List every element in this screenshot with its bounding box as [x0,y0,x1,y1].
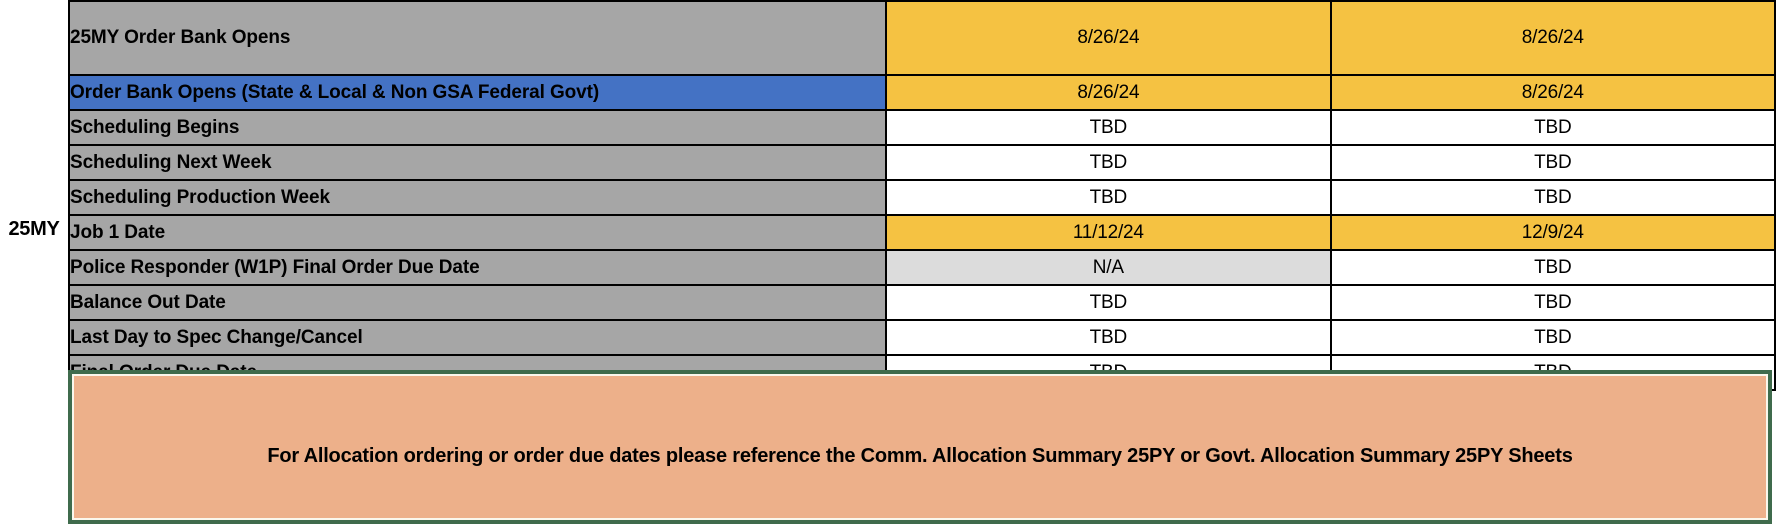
date-value-cell: 8/26/24 [1331,1,1775,75]
date-value-cell: 8/26/24 [1331,75,1775,110]
date-value-cell: TBD [886,145,1330,180]
date-value-cell: 11/12/24 [886,215,1330,250]
table-row: Job 1 Date11/12/2412/9/24 [69,215,1775,250]
date-value-cell: TBD [886,110,1330,145]
row-label-cell: Scheduling Production Week [69,180,886,215]
table-row: Balance Out DateTBDTBD [69,285,1775,320]
row-label-cell: 25MY Order Bank Opens [69,1,886,75]
table-row: Scheduling BeginsTBDTBD [69,110,1775,145]
date-value-cell: TBD [1331,180,1775,215]
table-row: Scheduling Next WeekTBDTBD [69,145,1775,180]
schedule-table-body: 25MY Order Bank Opens8/26/248/26/24Order… [69,1,1775,390]
row-label-cell: Scheduling Next Week [69,145,886,180]
table-row: Order Bank Opens (State & Local & Non GS… [69,75,1775,110]
date-value-cell: TBD [1331,250,1775,285]
date-value-cell: TBD [886,320,1330,355]
row-label-cell: Last Day to Spec Change/Cancel [69,320,886,355]
model-year-label: 25MY [0,218,68,241]
allocation-footnote-banner: For Allocation ordering or order due dat… [68,370,1772,524]
date-value-cell: N/A [886,250,1330,285]
date-value-cell: TBD [1331,110,1775,145]
row-label-cell: Police Responder (W1P) Final Order Due D… [69,250,886,285]
date-value-cell: TBD [1331,320,1775,355]
row-label-cell: Order Bank Opens (State & Local & Non GS… [69,75,886,110]
table-row: Scheduling Production WeekTBDTBD [69,180,1775,215]
date-value-cell: TBD [886,285,1330,320]
allocation-footnote-text: For Allocation ordering or order due dat… [247,445,1592,468]
date-value-cell: TBD [1331,285,1775,320]
schedule-table: 25MY Order Bank Opens8/26/248/26/24Order… [68,0,1776,391]
row-label-cell: Balance Out Date [69,285,886,320]
table-row: Police Responder (W1P) Final Order Due D… [69,250,1775,285]
date-value-cell: 8/26/24 [886,1,1330,75]
date-value-cell: TBD [886,180,1330,215]
row-label-cell: Job 1 Date [69,215,886,250]
date-value-cell: TBD [1331,145,1775,180]
date-value-cell: 12/9/24 [1331,215,1775,250]
date-value-cell: 8/26/24 [886,75,1330,110]
table-row: Last Day to Spec Change/CancelTBDTBD [69,320,1775,355]
row-label-cell: Scheduling Begins [69,110,886,145]
schedule-sheet: 25MY 25MY Order Bank Opens8/26/248/26/24… [0,0,1776,528]
table-row: 25MY Order Bank Opens8/26/248/26/24 [69,1,1775,75]
